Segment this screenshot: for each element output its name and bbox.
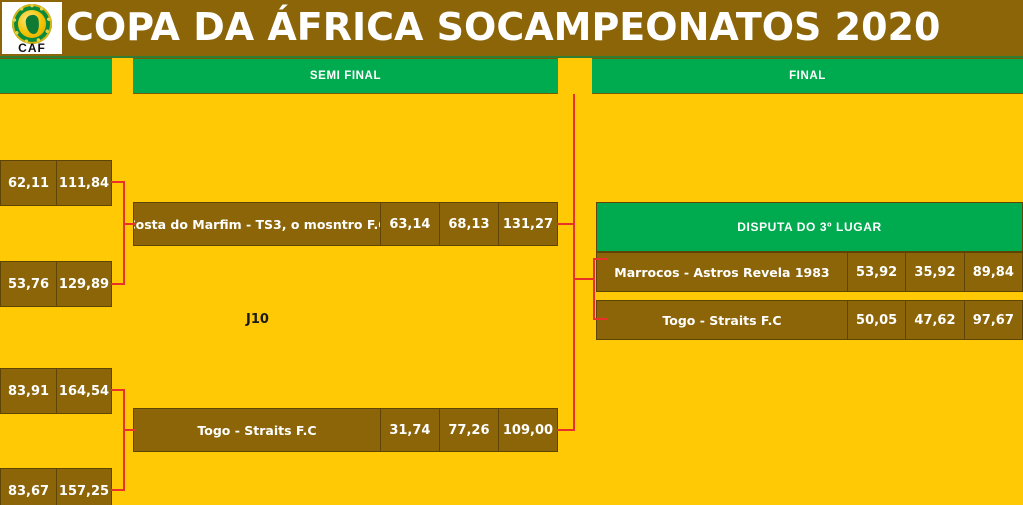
tp2-total: 97,67 [964, 301, 1022, 339]
tp1-score-a: 53,92 [847, 253, 905, 291]
connector-third-place-top [593, 258, 607, 260]
tp1-score-b: 35,92 [905, 253, 963, 291]
semi-final-row-1[interactable]: Costa do Marfim - TS3, o mosntro F.C 63,… [133, 202, 558, 246]
stage-header-blank [0, 58, 112, 94]
qf4-score-b: 157,25 [56, 469, 111, 505]
connector-qf-upper-spine [123, 181, 125, 285]
third-place-row-2[interactable]: Togo - Straits F.C 50,05 47,62 97,67 [596, 300, 1023, 340]
sf1-match-name: Costa do Marfim - TS3, o mosntro F.C [134, 203, 380, 245]
round-label: J10 [246, 312, 269, 327]
qf3-score-a: 83,91 [1, 369, 56, 413]
tp2-score-a: 50,05 [847, 301, 905, 339]
page-title: COPA DA ÁFRICA SOCAMPEONATOS 2020 [66, 0, 940, 56]
third-place-row-1[interactable]: Marrocos - Astros Revela 1983 53,92 35,9… [596, 252, 1023, 292]
caf-logo-text: CAF [10, 41, 54, 54]
sf1-score-b: 68,13 [439, 203, 498, 245]
connector-final-spine [573, 94, 575, 431]
qf4-score-a: 83,67 [1, 469, 56, 505]
title-bar: CAF COPA DA ÁFRICA SOCAMPEONATOS 2020 [0, 0, 1023, 58]
connector-third-place-spine [593, 258, 595, 320]
connector-qf-lower-spine [123, 389, 125, 491]
connector-to-sf2 [123, 429, 135, 431]
sf1-score-a: 63,14 [380, 203, 439, 245]
sf2-total: 109,00 [498, 409, 557, 451]
qf1-score-b: 111,84 [56, 161, 111, 205]
connector-to-third-place [573, 278, 595, 280]
stage-header-final: FINAL [592, 58, 1023, 94]
quarter-final-row-4[interactable]: 83,67 157,25 [0, 468, 112, 505]
connector-third-place-bottom [593, 318, 607, 320]
tp2-score-b: 47,62 [905, 301, 963, 339]
sf2-score-b: 77,26 [439, 409, 498, 451]
connector-to-sf1 [123, 223, 135, 225]
tp1-match-name: Marrocos - Astros Revela 1983 [597, 253, 847, 291]
quarter-final-row-3[interactable]: 83,91 164,54 [0, 368, 112, 414]
tp1-total: 89,84 [964, 253, 1022, 291]
quarter-final-row-1[interactable]: 62,11 111,84 [0, 160, 112, 206]
qf3-score-b: 164,54 [56, 369, 111, 413]
caf-logo: CAF [2, 2, 62, 54]
stage-header-semi-final: SEMI FINAL [133, 58, 558, 94]
third-place-heading: DISPUTA DO 3º LUGAR [596, 202, 1023, 252]
sf2-score-a: 31,74 [380, 409, 439, 451]
bracket-screen: CAF COPA DA ÁFRICA SOCAMPEONATOS 2020 SE… [0, 0, 1023, 505]
semi-final-row-2[interactable]: Togo - Straits F.C 31,74 77,26 109,00 [133, 408, 558, 452]
quarter-final-row-2[interactable]: 53,76 129,89 [0, 261, 112, 307]
tp2-match-name: Togo - Straits F.C [597, 301, 847, 339]
sf1-total: 131,27 [498, 203, 557, 245]
qf2-score-a: 53,76 [1, 262, 56, 306]
sf2-match-name: Togo - Straits F.C [134, 409, 380, 451]
qf1-score-a: 62,11 [1, 161, 56, 205]
qf2-score-b: 129,89 [56, 262, 111, 306]
caf-emblem-stars [12, 4, 52, 44]
